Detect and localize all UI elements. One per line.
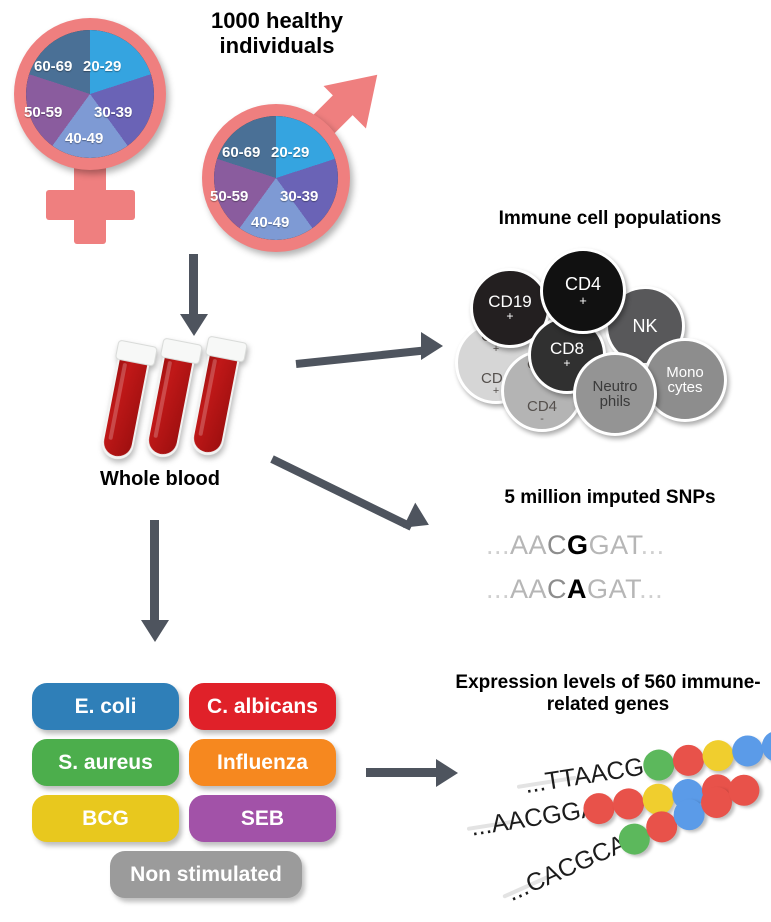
slice-label-20-29: 20-29 xyxy=(83,58,121,75)
slice-label-60-69: 60-69 xyxy=(34,58,72,75)
snp-sequence-block: ...AACGGAT... ...AACAGAT... xyxy=(478,530,758,620)
stimulus-bcg[interactable]: BCG xyxy=(32,795,179,842)
expression-bead xyxy=(730,733,765,768)
imputed-snps-title: 5 million imputed SNPs xyxy=(455,487,765,509)
cell-neutrophils: Neutrophils xyxy=(573,352,657,436)
immune-cell-cluster: CD19+ CD4+ CD8+ CD4+ CD8+ NK CD8- CD4- xyxy=(455,240,765,415)
cell-superscript: + xyxy=(488,310,531,322)
page-title: 1000 healthy individuals xyxy=(182,8,372,59)
cell-label: NK xyxy=(632,317,657,335)
cell-label: CD8 xyxy=(550,340,584,357)
expression-bead xyxy=(700,738,735,773)
slice-label-40-49: 40-49 xyxy=(251,214,289,231)
cell-label: CD4 xyxy=(565,275,601,293)
snp-variant-base: G xyxy=(567,530,589,560)
stimulus-e-coli[interactable]: E. coli xyxy=(32,683,179,730)
immune-cell-populations-title: Immune cell populations xyxy=(455,208,765,230)
female-gender-symbol: 60-69 20-29 30-39 40-49 50-59 xyxy=(8,12,183,247)
stimulus-c-albicans[interactable]: C. albicans xyxy=(189,683,336,730)
cell-monocytes: Monocytes xyxy=(643,338,727,422)
expression-bead xyxy=(760,729,771,764)
slice-label-50-59: 50-59 xyxy=(24,104,62,121)
stimuli-panel: E. coli C. albicans S. aureus Influenza … xyxy=(32,683,344,895)
slice-label-20-29: 20-29 xyxy=(271,144,309,161)
study-design-diagram: 1000 healthy individuals 60-69 20-29 30-… xyxy=(0,0,771,922)
slice-label-30-39: 30-39 xyxy=(280,188,318,205)
cell-superscript: + xyxy=(565,294,601,307)
whole-blood-tubes xyxy=(110,338,280,468)
stimulus-seb[interactable]: SEB xyxy=(189,795,336,842)
stimulus-influenza[interactable]: Influenza xyxy=(189,739,336,786)
cell-superscript: + xyxy=(550,357,584,369)
slice-label-60-69: 60-69 xyxy=(222,144,260,161)
expression-bead xyxy=(671,743,706,778)
slice-label-50-59: 50-59 xyxy=(210,188,248,205)
female-stem-horizontal xyxy=(46,190,135,220)
cell-cd4-positive: CD4+ xyxy=(540,248,626,334)
snp-sequence-row: ...AACAGAT... xyxy=(486,574,663,605)
snp-variant-base: A xyxy=(567,574,587,604)
male-gender-symbol: 60-69 20-29 30-39 40-49 50-59 xyxy=(196,80,411,255)
expression-levels-title: Expression levels of 560 immune-related … xyxy=(448,672,768,716)
stimulus-s-aureus[interactable]: S. aureus xyxy=(32,739,179,786)
stimulus-non-stimulated[interactable]: Non stimulated xyxy=(110,851,302,898)
expression-strand-group: ...TTAACGG ...AACGGAT ...CACGCAA xyxy=(455,720,771,915)
cell-label: CD19 xyxy=(488,293,531,310)
slice-label-40-49: 40-49 xyxy=(65,130,103,147)
snp-sequence-row: ...AACGGAT... xyxy=(486,530,665,561)
whole-blood-label: Whole blood xyxy=(60,468,260,491)
slice-label-30-39: 30-39 xyxy=(94,104,132,121)
